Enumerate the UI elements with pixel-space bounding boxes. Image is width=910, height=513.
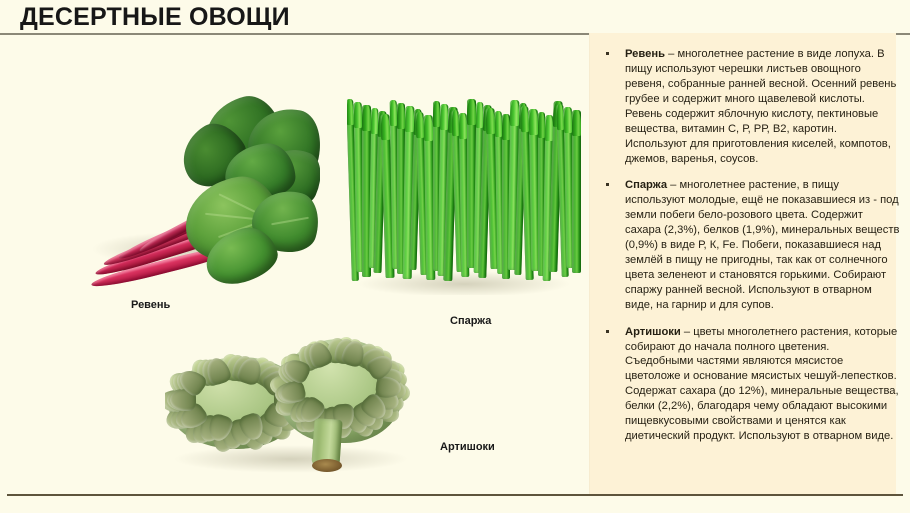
caption-artichoke: Артишоки [440,441,495,453]
bullet-dot-icon [606,183,609,186]
footer-divider [7,494,903,496]
slide-root: ДЕСЕРТНЫЕ ОВОЩИ Ревень – многолетнее рас… [0,0,910,513]
list-item: Ревень – многолетнее растение в виде лоп… [600,47,900,166]
caption-asparagus: Спаржа [450,315,491,327]
bullet-dot-icon [606,52,609,55]
bullet-list: Ревень – многолетнее растение в виде лоп… [600,36,900,456]
list-item: Спаржа – многолетнее растение, в пищу ис… [600,178,900,312]
page-title: ДЕСЕРТНЫЕ ОВОЩИ [20,3,290,32]
bullet-text: – многолетнее растение в виде лопуха. В … [625,48,896,164]
list-item: Артишоки – цветы многолетнего растения, … [600,325,900,444]
bullet-dot-icon [606,330,609,333]
bullet-term: Ревень [625,48,665,60]
bullet-text: – многолетнее растение, в пищу использую… [625,179,899,310]
bullet-term: Артишоки [625,326,681,338]
asparagus-photo [347,95,584,295]
asparagus-spear [572,110,581,273]
bullet-text: – цветы многолетнего растения, которые с… [625,326,899,442]
rhubarb-photo [85,92,320,292]
bullet-term: Спаржа [625,179,667,191]
caption-rhubarb: Ревень [131,299,170,311]
panel-left-edge [589,33,590,494]
artichoke-photo [165,333,420,485]
